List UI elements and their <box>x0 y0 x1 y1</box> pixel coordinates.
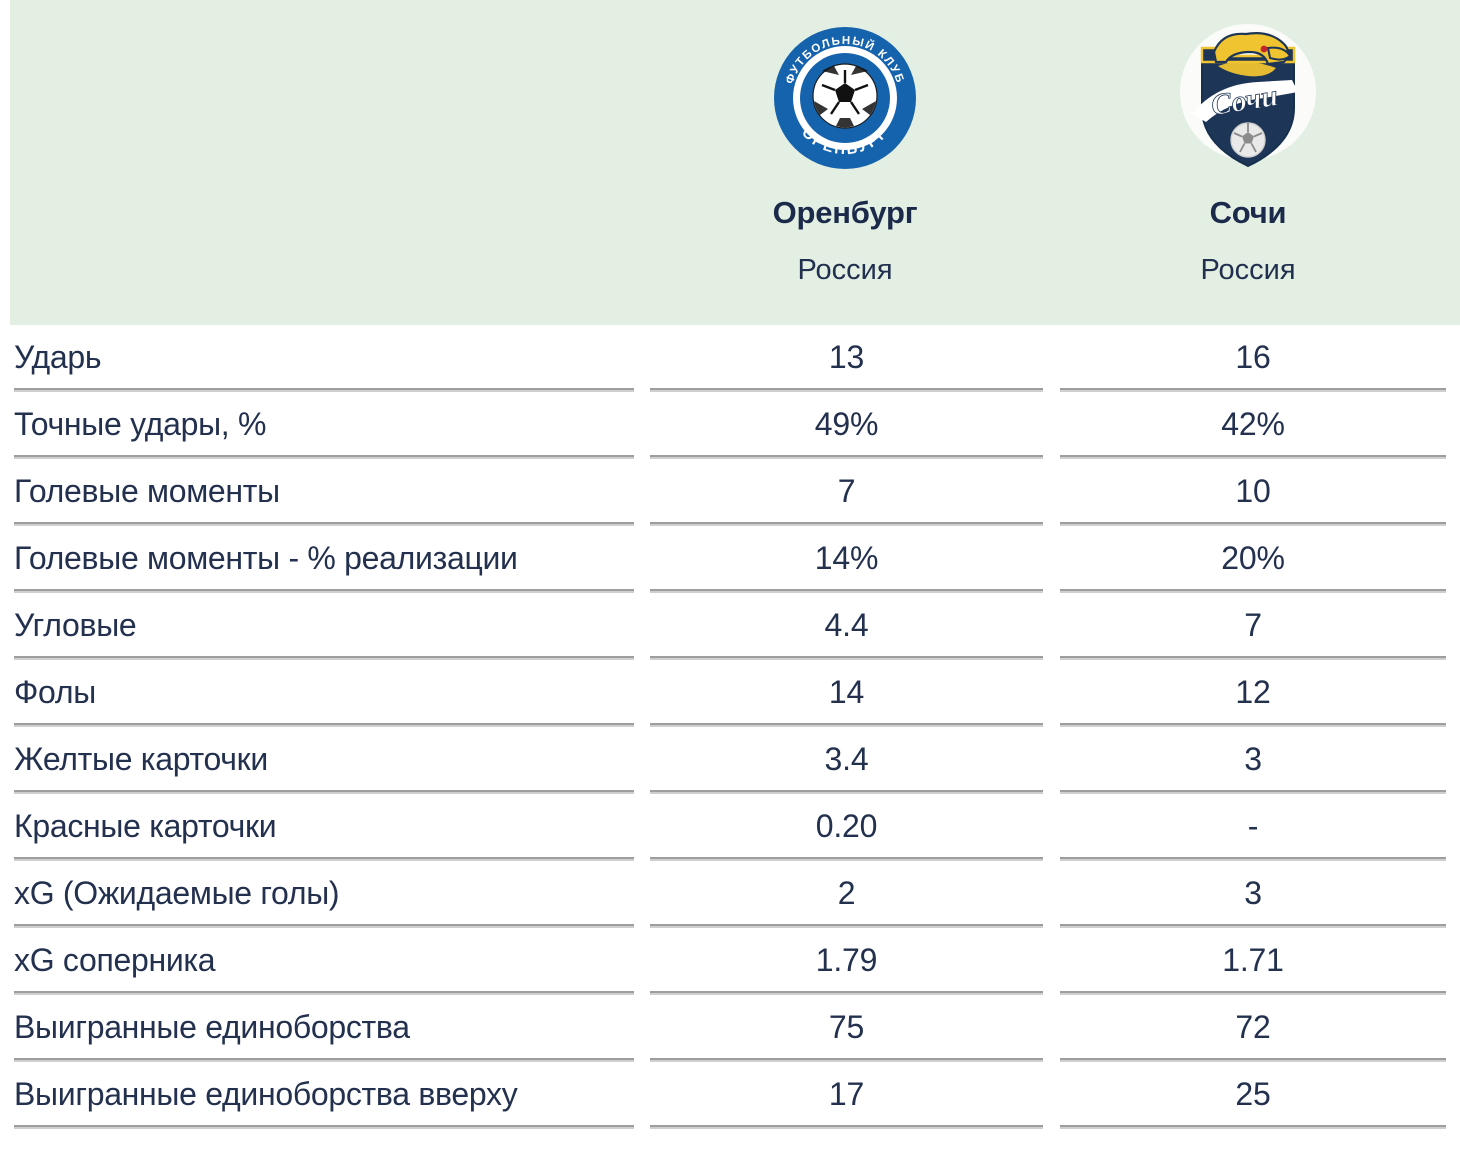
team-name-0: Оренбург <box>715 197 975 228</box>
row-divider <box>1060 1125 1446 1129</box>
stat-value-team-0: 14% <box>650 526 1043 593</box>
stat-value-team-1: 16 <box>1060 325 1446 392</box>
stat-label: Точные удары, % <box>14 392 266 459</box>
table-row: Угловые4.47 <box>0 593 1460 660</box>
soccer-ball-icon <box>812 63 878 129</box>
table-row: Ударь1316 <box>0 325 1460 392</box>
teams-header-band: ФУТБОЛЬНЫЙ КЛУБ ОРЕНБУРГ <box>10 0 1460 325</box>
stat-value-team-0: 75 <box>650 995 1043 1062</box>
table-row: Точные удары, %49%42% <box>0 392 1460 459</box>
team-crest-1-wrap: Сочи <box>1118 0 1378 195</box>
stat-value-team-1: 20% <box>1060 526 1446 593</box>
stat-value-team-0: 3.4 <box>650 727 1043 794</box>
stat-value-team-1: 12 <box>1060 660 1446 727</box>
sochi-crest-icon: Сочи <box>1172 22 1324 174</box>
stat-value-team-1: 1.71 <box>1060 928 1446 995</box>
team-column-header-0: ФУТБОЛЬНЫЙ КЛУБ ОРЕНБУРГ <box>715 0 975 325</box>
team-country-1: Россия <box>1118 256 1378 285</box>
sochi-crest-art: Сочи <box>1172 22 1324 174</box>
stat-label: xG (Ожидаемые голы) <box>14 861 339 928</box>
table-row: Выигранные единоборства вверху1725 <box>0 1062 1460 1129</box>
stat-value-team-1: 25 <box>1060 1062 1446 1129</box>
stat-label: Угловые <box>14 593 136 660</box>
stat-value-team-0: 0.20 <box>650 794 1043 861</box>
stat-value-team-0: 13 <box>650 325 1043 392</box>
stat-value-team-0: 14 <box>650 660 1043 727</box>
row-divider <box>14 1125 634 1129</box>
stat-label: Выигранные единоборства вверху <box>14 1062 517 1129</box>
table-row: Голевые моменты710 <box>0 459 1460 526</box>
orenburg-crest-icon: ФУТБОЛЬНЫЙ КЛУБ ОРЕНБУРГ <box>769 22 921 174</box>
stat-value-team-0: 7 <box>650 459 1043 526</box>
stat-value-team-0: 2 <box>650 861 1043 928</box>
table-row: Фолы1412 <box>0 660 1460 727</box>
stat-value-team-1: 7 <box>1060 593 1446 660</box>
table-row: xG (Ожидаемые голы)23 <box>0 861 1460 928</box>
stat-label: Голевые моменты <box>14 459 280 526</box>
team-country-0: Россия <box>715 256 975 285</box>
team-crest-0-wrap: ФУТБОЛЬНЫЙ КЛУБ ОРЕНБУРГ <box>715 0 975 195</box>
table-row: Желтые карточки3.43 <box>0 727 1460 794</box>
stat-label: Фолы <box>14 660 96 727</box>
stat-value-team-0: 1.79 <box>650 928 1043 995</box>
team-column-header-1: Сочи Сочи Россия <box>1118 0 1378 325</box>
stats-table: Ударь1316Точные удары, %49%42%Голевые мо… <box>0 325 1460 1129</box>
team-name-1: Сочи <box>1118 197 1378 228</box>
table-row: xG соперника1.791.71 <box>0 928 1460 995</box>
stat-label: Ударь <box>14 325 101 392</box>
stat-label: Выигранные единоборства <box>14 995 410 1062</box>
stat-value-team-0: 49% <box>650 392 1043 459</box>
stat-value-team-1: 3 <box>1060 727 1446 794</box>
stat-value-team-0: 17 <box>650 1062 1043 1129</box>
stat-label: Желтые карточки <box>14 727 268 794</box>
table-row: Голевые моменты - % реализации14%20% <box>0 526 1460 593</box>
table-row: Красные карточки0.20- <box>0 794 1460 861</box>
table-row: Выигранные единоборства7572 <box>0 995 1460 1062</box>
team-comparison-stats-page: ФУТБОЛЬНЫЙ КЛУБ ОРЕНБУРГ <box>0 0 1460 1162</box>
stat-value-team-1: 72 <box>1060 995 1446 1062</box>
stat-value-team-1: 10 <box>1060 459 1446 526</box>
stat-label: Голевые моменты - % реализации <box>14 526 518 593</box>
stat-value-team-0: 4.4 <box>650 593 1043 660</box>
row-divider <box>650 1125 1043 1129</box>
stat-label: Красные карточки <box>14 794 276 861</box>
stat-label: xG соперника <box>14 928 215 995</box>
stat-value-team-1: - <box>1060 794 1446 861</box>
stat-value-team-1: 42% <box>1060 392 1446 459</box>
stat-value-team-1: 3 <box>1060 861 1446 928</box>
